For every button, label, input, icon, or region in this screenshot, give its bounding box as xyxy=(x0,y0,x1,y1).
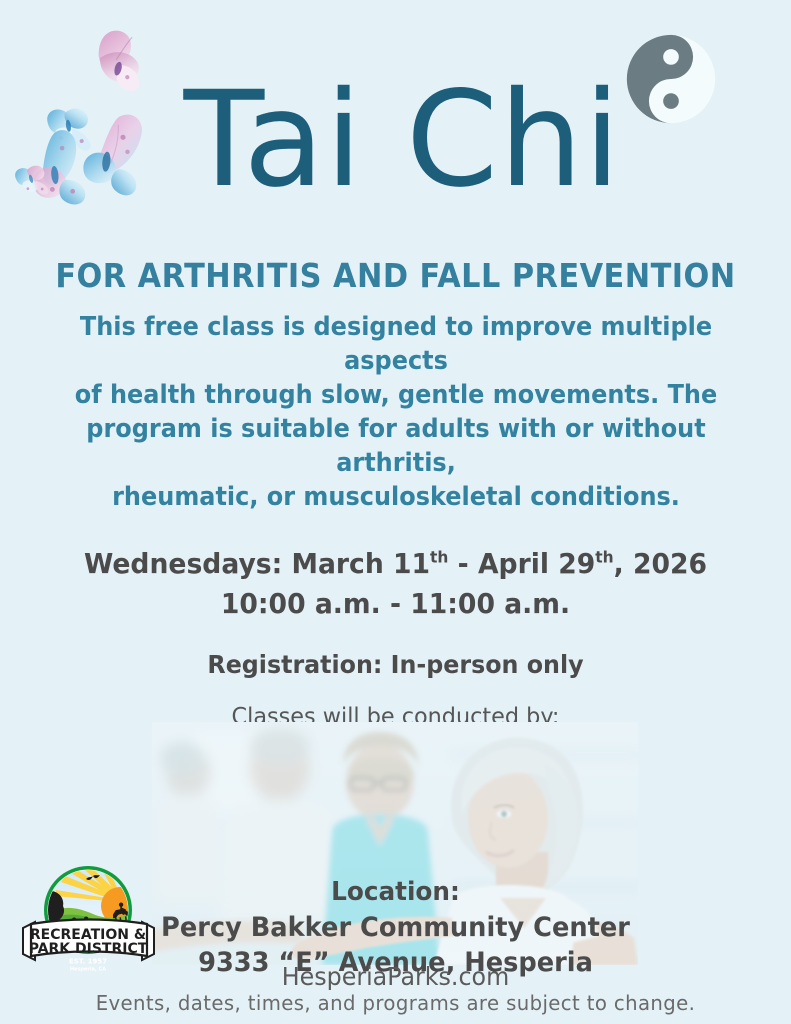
schedule-time: 10:00 a.m. - 11:00 a.m. xyxy=(20,584,771,624)
intro-paragraph: This free class is designed to improve m… xyxy=(48,311,744,514)
schedule-block: Wednesdays: March 11th - April 29th, 202… xyxy=(0,544,791,624)
ordinal-th-1: th xyxy=(430,548,448,567)
schedule-day-mid: - April 29 xyxy=(448,547,595,580)
yin-yang-icon xyxy=(625,33,717,125)
flyer-header: Tai Chi xyxy=(0,0,791,240)
tai-chi-flyer: Tai Chi FOR ARTHRITIS AND FALL PREVENTIO… xyxy=(0,0,791,1024)
intro-line-4: rheumatic, or musculoskeletal conditions… xyxy=(48,481,744,515)
schedule-dates: Wednesdays: March 11th - April 29th, 202… xyxy=(20,544,771,584)
schedule-day-suffix: , 2026 xyxy=(614,547,707,580)
logo-bottom-text: PARK DISTRICT xyxy=(29,941,148,957)
schedule-day-prefix: Wednesdays: March 11 xyxy=(84,547,430,580)
registration-info: Registration: In-person only xyxy=(20,650,771,679)
disclaimer-text: Events, dates, times, and programs are s… xyxy=(16,991,775,1015)
recreation-park-district-logo: RECREATION & PARK DISTRICT EST. 1957 Hes… xyxy=(17,862,160,974)
intro-line-2: of health through slow, gentle movements… xyxy=(48,379,744,413)
logo-city: Hesperia, CA xyxy=(70,967,106,973)
ordinal-th-2: th xyxy=(595,548,613,567)
intro-line-3: program is suitable for adults with or w… xyxy=(48,413,744,481)
logo-established: EST. 1957 xyxy=(69,958,107,966)
flyer-subtitle: FOR ARTHRITIS AND FALL PREVENTION xyxy=(32,256,760,295)
intro-line-1: This free class is designed to improve m… xyxy=(48,311,744,379)
